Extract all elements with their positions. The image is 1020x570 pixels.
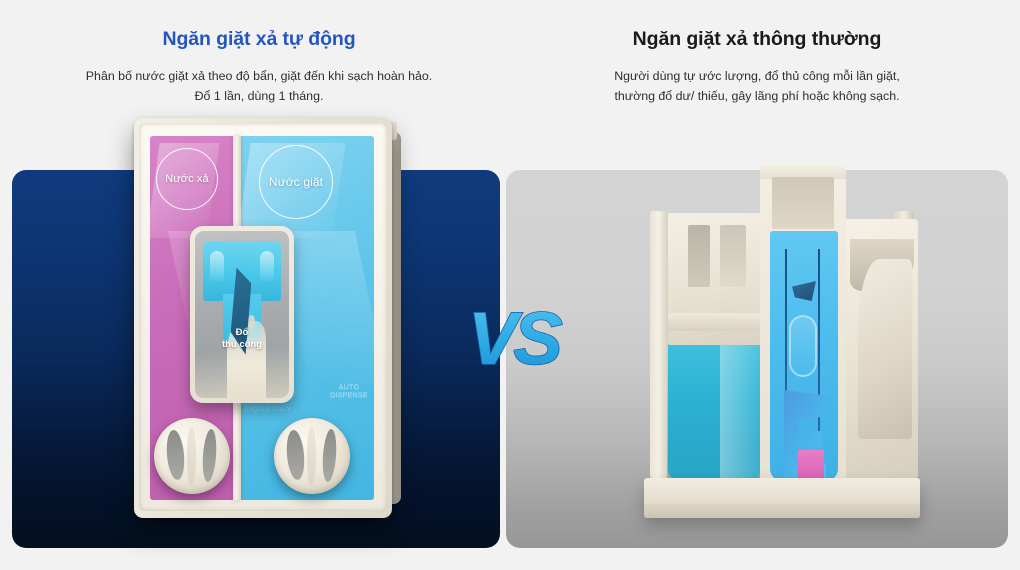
detergent-cap-dial: [274, 418, 350, 494]
conventional-shelf-slot-a: [688, 225, 710, 287]
auto-dispense-emboss-line-1: AUTO: [320, 384, 378, 392]
comparison-figure: Ngăn giặt xả tự động Phân bố nước giặt x…: [0, 0, 1020, 570]
detergent-cap-slot-left: [285, 430, 306, 481]
right-panel-subtitle: Người dùng tự ước lượng, đổ thủ công mỗi…: [506, 66, 1008, 106]
right-panel-title: Ngăn giặt xả thông thường: [506, 28, 1008, 51]
left-panel-title: Ngăn giặt xả tự động: [12, 28, 506, 51]
auto-dispense-drawer-illustration: LIQUID ONLY AUTO DISPENSE Nước xả Nước g…: [134, 118, 392, 518]
manual-pour-label-line-1: Đổ: [190, 327, 294, 339]
conventional-left-wall: [650, 211, 667, 480]
manual-pour-label: Đổ thủ công: [190, 327, 294, 352]
conventional-right-curve: [858, 259, 912, 439]
softener-cap-slot-center: [187, 426, 196, 487]
softener-cap-slot-left: [165, 430, 186, 481]
conventional-frame-cutout: [772, 177, 834, 229]
softener-cap-dial: [154, 418, 230, 494]
right-header: Ngăn giặt xả thông thường Người dùng tự …: [506, 0, 1008, 160]
conventional-liquid-gloss: [720, 343, 760, 480]
detergent-cap-slot-center: [307, 426, 316, 487]
detergent-badge: Nước giặt: [259, 145, 333, 219]
auto-dispense-emboss: AUTO DISPENSE: [320, 384, 378, 414]
softener-cap-slot-right: [201, 428, 218, 482]
conventional-column-oval: [789, 315, 817, 377]
left-panel-subtitle: Phân bố nước giặt xả theo độ bẩn, giặt đ…: [12, 66, 506, 106]
manual-pour-label-line-2: thủ công: [190, 339, 294, 351]
right-subtitle-line-1: Người dùng tự ước lượng, đổ thủ công mỗi…: [506, 66, 1008, 86]
drawer-outer-shell: LIQUID ONLY AUTO DISPENSE Nước xả Nước g…: [134, 118, 392, 518]
manual-pour-tray: Đổ thủ công: [190, 226, 294, 403]
softener-badge: Nước xả: [156, 148, 218, 210]
auto-dispense-emboss-line-2: DISPENSE: [320, 392, 378, 400]
conventional-column-pink-residue: [798, 450, 824, 478]
manual-pour-tray-inner: [195, 231, 289, 398]
conventional-shelf-slot-b: [720, 225, 746, 287]
left-subtitle-line-2: Đổ 1 lần, dùng 1 tháng.: [12, 86, 506, 106]
left-subtitle-line-1: Phân bố nước giặt xả theo độ bẩn, giặt đ…: [12, 66, 506, 86]
detergent-cap-slot-right: [321, 428, 338, 482]
right-subtitle-line-2: thường đổ dư/ thiếu, gây lãng phí hoặc k…: [506, 86, 1008, 106]
conventional-drawer-illustration: [632, 163, 932, 518]
conventional-drawer-base-front: [644, 504, 920, 518]
